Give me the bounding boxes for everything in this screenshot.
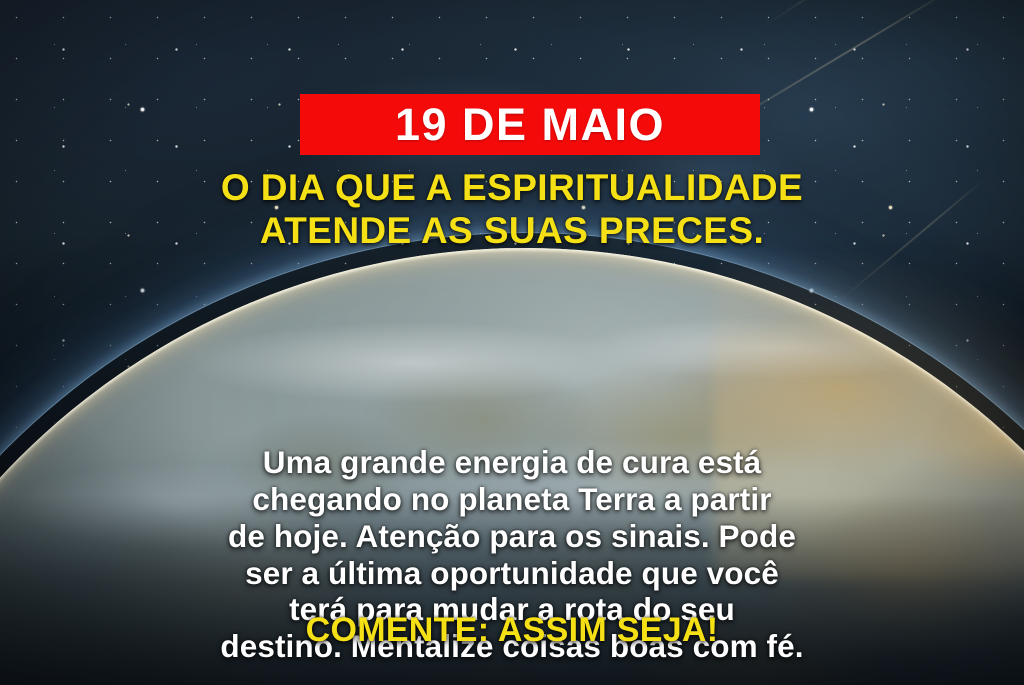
date-badge-label: 19 DE MAIO: [395, 102, 665, 147]
poster-content: 19 DE MAIO O DIA QUE A ESPIRITUALIDADE A…: [0, 0, 1024, 685]
body-copy-line-4: ser a última oportunidade que você: [56, 555, 968, 592]
headline: O DIA QUE A ESPIRITUALIDADE ATENDE AS SU…: [0, 166, 1024, 253]
headline-line-1: O DIA QUE A ESPIRITUALIDADE: [44, 166, 980, 209]
call-to-action-label: COMENTE: ASSIM SEJA!: [306, 611, 719, 649]
body-copy-line-2: chegando no planeta Terra a partir: [56, 481, 968, 518]
date-badge: 19 DE MAIO: [300, 94, 760, 155]
body-copy-line-3: de hoje. Atenção para os sinais. Pode: [56, 518, 968, 555]
poster-canvas: 19 DE MAIO O DIA QUE A ESPIRITUALIDADE A…: [0, 0, 1024, 685]
headline-line-2: ATENDE AS SUAS PRECES.: [44, 209, 980, 252]
body-copy-line-1: Uma grande energia de cura está: [56, 444, 968, 481]
call-to-action: COMENTE: ASSIM SEJA!: [0, 612, 1024, 649]
